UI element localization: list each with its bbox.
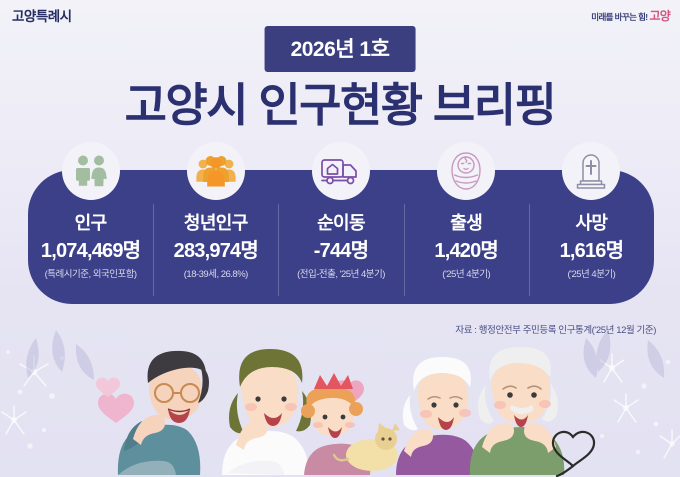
stat-value: 1,074,469명	[41, 241, 140, 261]
stat-note: (18-39세, 26.8%)	[184, 270, 248, 280]
stat-card-births: 출생 1,420명 ('25년 4분기)	[404, 170, 529, 304]
issue-number-badge: 2026년 1호	[265, 26, 416, 72]
moving-truck-icon	[312, 142, 370, 200]
tagline-slogan: 미래를 바꾸는 힘!	[591, 11, 647, 23]
city-brand-mark: 고양특례시	[12, 5, 72, 25]
stat-card-youth-population: 청년인구 283,974명 (18-39세, 26.8%)	[153, 170, 278, 304]
stat-value: 1,420명	[434, 241, 498, 261]
family-illustration	[0, 347, 680, 477]
swaddled-baby-icon	[437, 142, 495, 200]
stat-note: ('25년 4분기)	[567, 270, 615, 280]
stat-label: 출생	[450, 214, 482, 232]
illustration-person-adult-man	[118, 351, 209, 475]
stat-label: 인구	[75, 214, 107, 232]
page-title: 고양시 인구현황 브리핑	[0, 82, 680, 128]
stat-value: -744명	[314, 241, 368, 261]
stat-value: 283,974명	[174, 241, 258, 261]
illustration-person-young-woman	[222, 349, 311, 475]
stat-card-deaths: 사망 1,616명 ('25년 4분기)	[529, 170, 654, 304]
stats-row: 인구 1,074,469명 (특례시기준, 외국인포함)	[28, 170, 654, 304]
gravestone-icon	[562, 142, 620, 200]
tagline-city-name: 고양	[650, 7, 670, 24]
stat-label: 청년인구	[184, 214, 248, 232]
infographic-page: 고양특례시 미래를 바꾸는 힘! 고양 2026년 1호 고양시 인구현황 브리…	[0, 0, 680, 477]
stat-note: (전입-전출, '25년 4분기)	[297, 270, 385, 280]
stat-value: 1,616명	[560, 241, 624, 261]
stat-card-population: 인구 1,074,469명 (특례시기준, 외국인포함)	[28, 170, 153, 304]
city-tagline: 미래를 바꾸는 힘! 고양	[591, 7, 670, 24]
stat-note: ('25년 4분기)	[442, 270, 490, 280]
stat-card-net-migration: 순이동 -744명 (전입-전출, '25년 4분기)	[278, 170, 403, 304]
stat-note: (특례시기준, 외국인포함)	[45, 270, 137, 280]
illustration-person-elderly-woman	[396, 357, 478, 475]
two-people-icon	[62, 142, 120, 200]
people-group-icon	[187, 142, 245, 200]
stat-label: 사망	[575, 214, 607, 232]
data-source-note: 자료 : 행정안전부 주민등록 인구통계('25년 12월 기준)	[455, 322, 656, 336]
stat-label: 순이동	[317, 214, 365, 232]
illustration-person-elderly-man	[470, 347, 564, 475]
